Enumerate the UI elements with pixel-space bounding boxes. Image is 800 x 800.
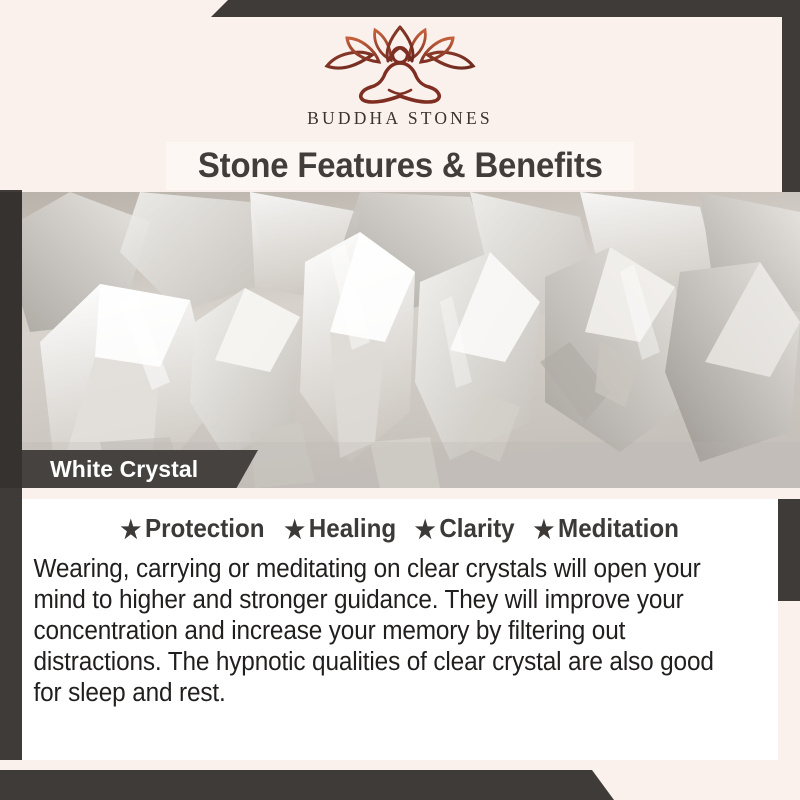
star-icon: ★ [121, 516, 142, 544]
star-icon: ★ [285, 516, 306, 544]
feature-item-protection: ★Protection [121, 513, 265, 545]
feature-item-clarity: ★Clarity [415, 513, 515, 545]
star-icon: ★ [534, 516, 555, 544]
photo-left-edge [0, 192, 22, 488]
white-crystal-cluster-photo [0, 192, 800, 488]
feature-item-healing: ★Healing [285, 513, 397, 545]
lotus-meditation-figure-icon [315, 22, 485, 104]
title-banner: Stone Features & Benefits [166, 142, 634, 190]
stone-name-label: White Crystal [50, 456, 198, 483]
feature-list: ★Protection★Healing★Clarity★Meditation [22, 499, 778, 545]
feature-label: Clarity [439, 513, 514, 543]
feature-label: Meditation [558, 513, 679, 543]
content-panel: ★Protection★Healing★Clarity★Meditation W… [22, 499, 778, 760]
star-icon: ★ [415, 516, 436, 544]
poster-root: BUDDHA STONES Stone Features & Benefits [0, 0, 800, 800]
description-text: Wearing, carrying or meditating on clear… [22, 554, 744, 709]
panel-gap-strip [22, 488, 800, 499]
brand-logo: BUDDHA STONES [0, 22, 800, 129]
feature-label: Protection [145, 513, 265, 543]
feature-label: Healing [309, 513, 396, 543]
feature-item-meditation: ★Meditation [534, 513, 679, 545]
page-title: Stone Features & Benefits [198, 146, 603, 186]
brand-name: BUDDHA STONES [0, 108, 800, 129]
stone-name-band: White Crystal [22, 450, 258, 489]
